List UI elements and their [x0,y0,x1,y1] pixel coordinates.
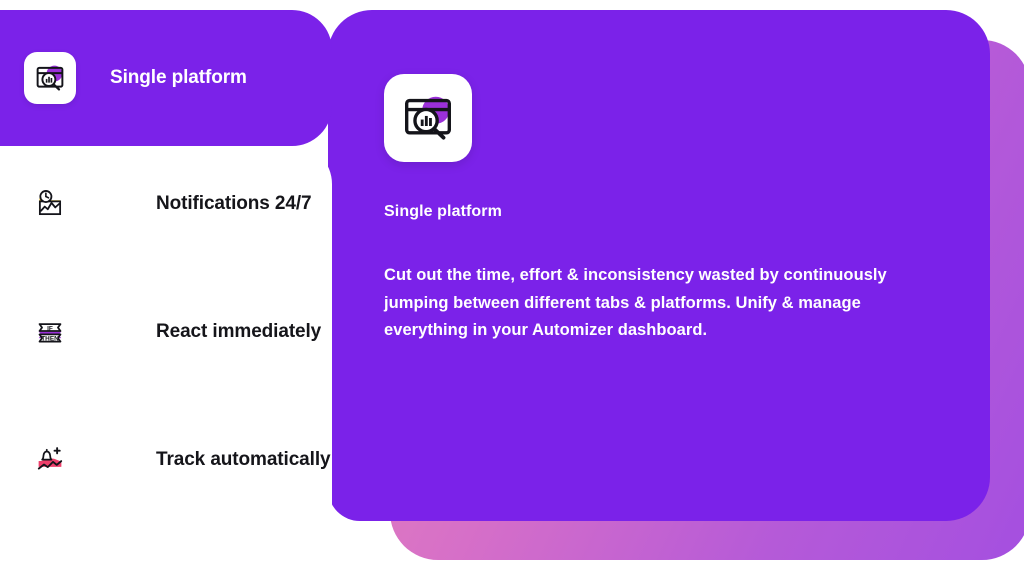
clock-chart-icon [24,178,76,230]
sidebar-item-single-platform[interactable]: Single platform [0,10,332,146]
sidebar-item-label: Track automatically [156,449,330,471]
sidebar-item-react-immediately[interactable]: IF THEN React immediately [24,304,324,360]
sidebar-item-label: Notifications 24/7 [156,193,312,215]
then-text: THEN [41,336,59,343]
detail-body: Cut out the time, effort & inconsistency… [384,262,894,345]
detail-content: Single platform Cut out the time, effort… [384,74,904,345]
dashboard-search-icon [384,74,472,162]
detail-title: Single platform [384,203,904,221]
sidebar-item-track-automatically[interactable]: Track automatically [24,432,324,488]
dashboard-search-icon [24,52,76,104]
sidebar-item-label: React immediately [156,321,321,343]
sidebar-item-label: Single platform [110,67,247,89]
sidebar-item-notifications[interactable]: Notifications 24/7 [24,176,324,232]
if-then-icon: IF THEN [24,306,76,358]
bell-plus-chart-icon [24,434,76,486]
if-text: IF [47,325,53,332]
